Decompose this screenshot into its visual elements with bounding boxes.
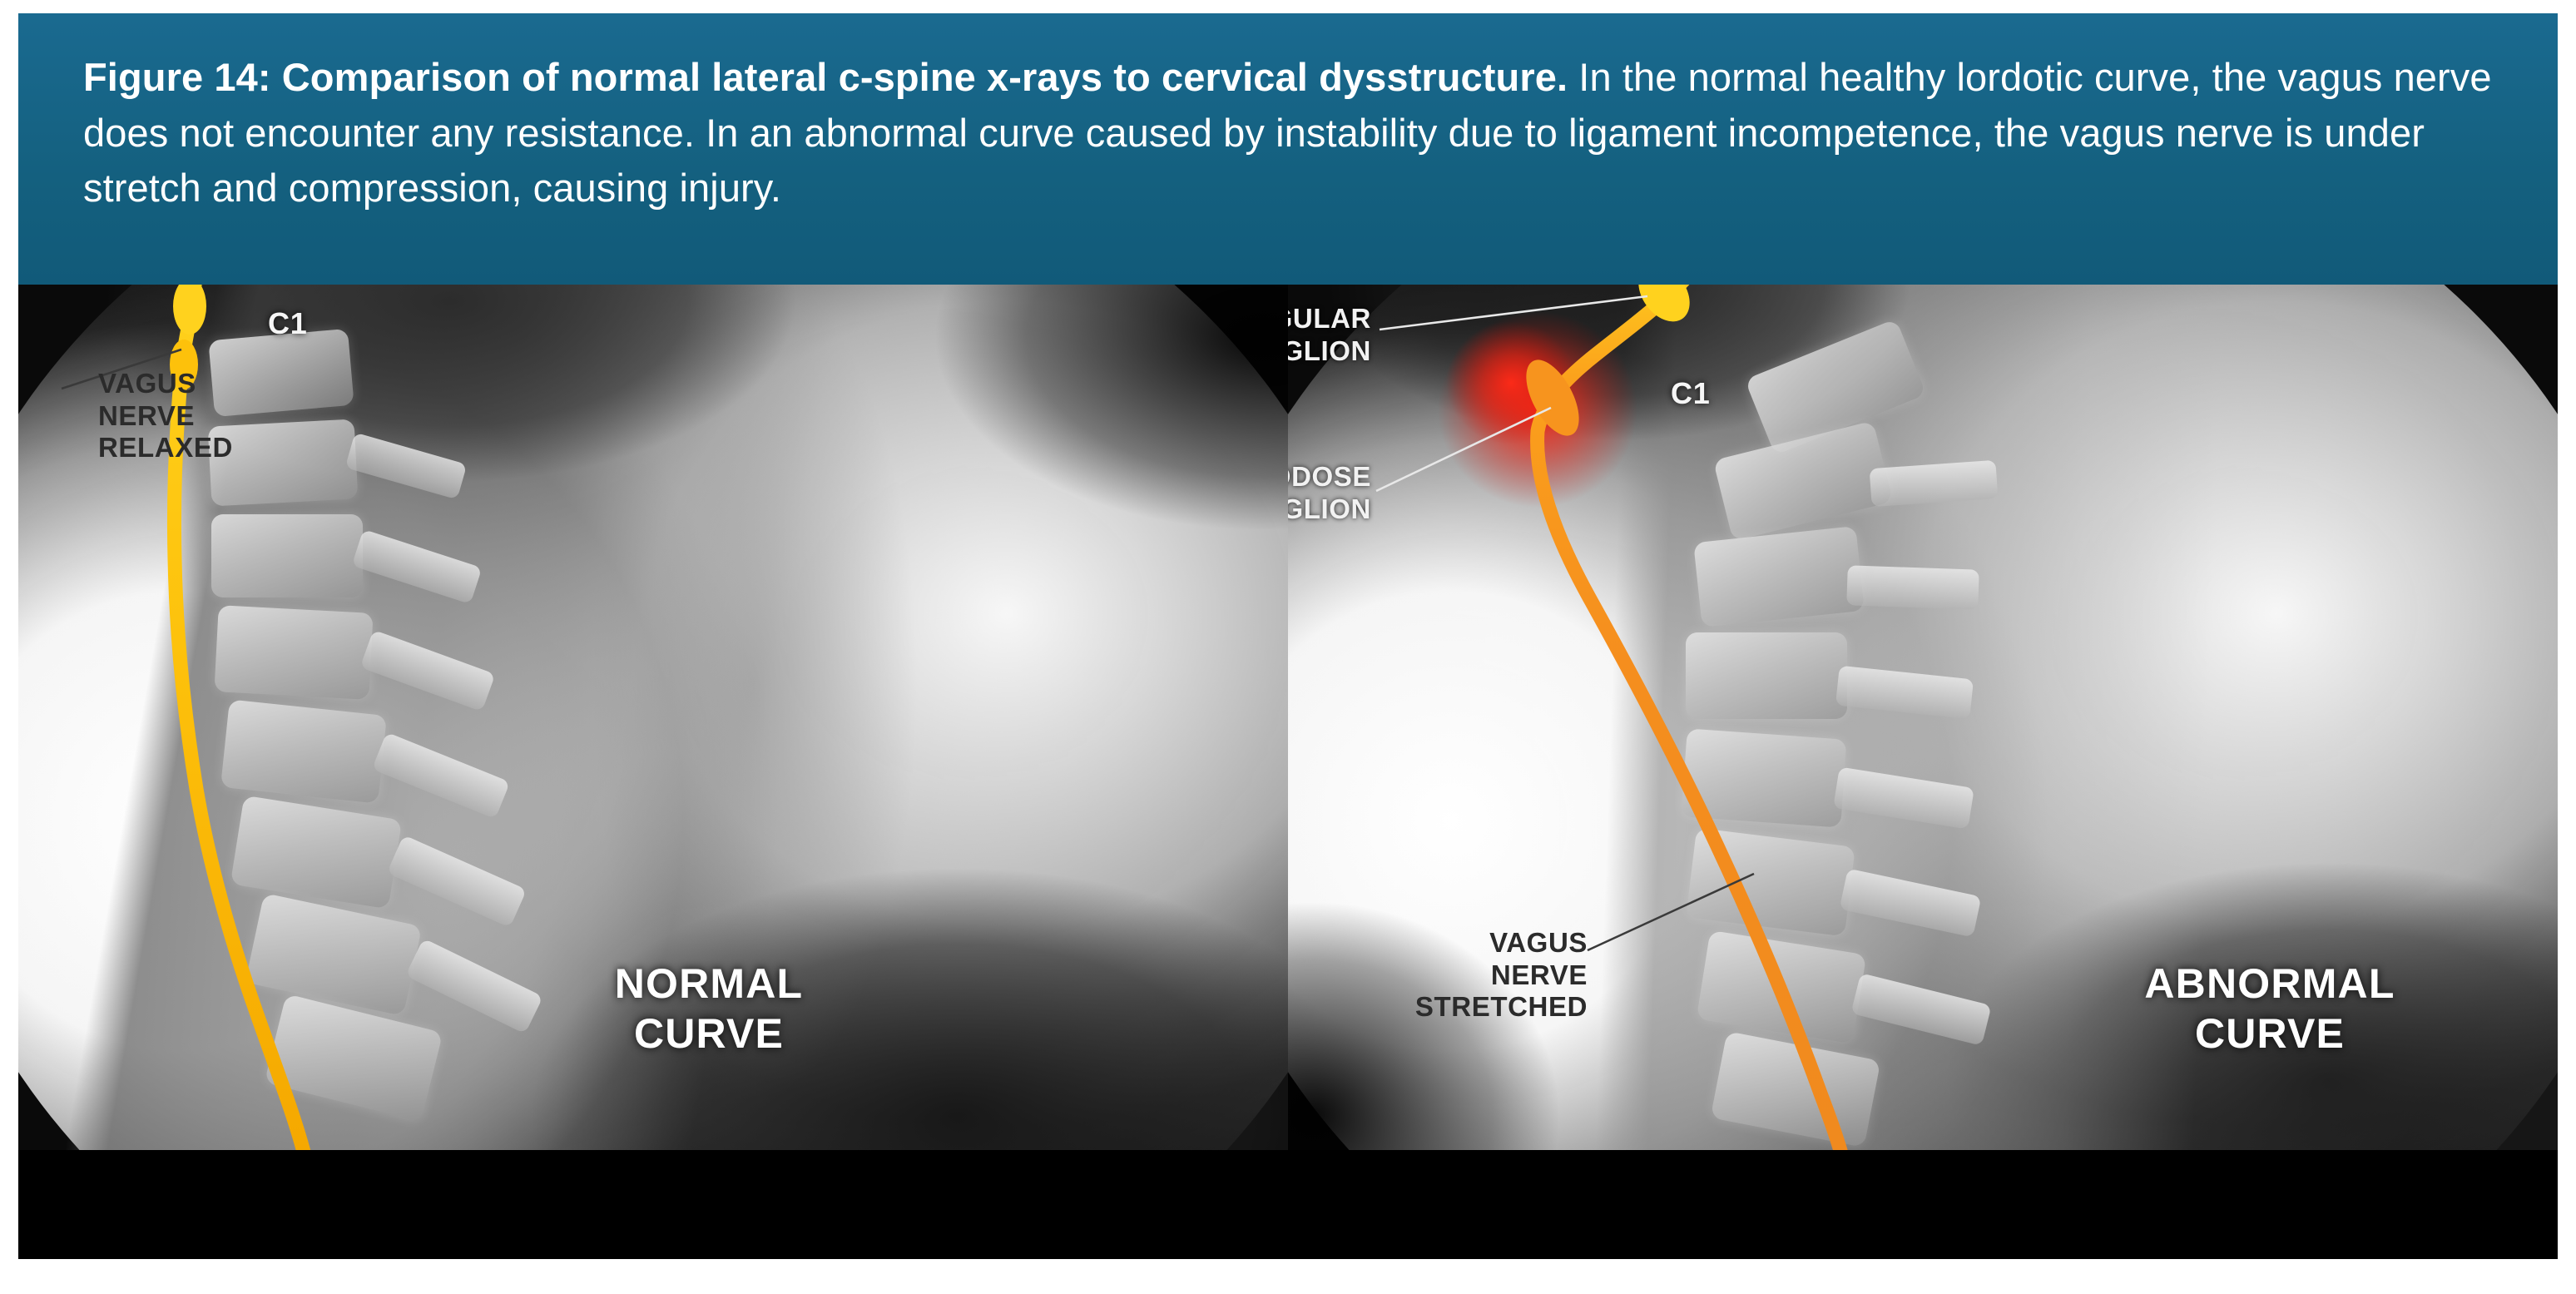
figure-frame: Figure 14: Comparison of normal lateral … bbox=[18, 13, 2558, 1259]
annotation-vagus-nerve-stretched: VAGUS NERVE STRETCHED bbox=[1313, 927, 1588, 1024]
figure-caption-lead: Figure 14: Comparison of normal lateral … bbox=[83, 55, 1568, 99]
annotation-jugular-ganglion: JUGULAR GANGLION bbox=[1288, 303, 1371, 367]
panel-title-normal-curve: NORMAL CURVE bbox=[534, 959, 884, 1059]
xray-panel-normal: VAGUS NERVE RELAXED C1 NORMAL CURVE bbox=[18, 285, 1288, 1150]
annotation-nodose-ganglion: NODOSE GANGLION bbox=[1288, 461, 1371, 525]
figure-page: Figure 14: Comparison of normal lateral … bbox=[0, 0, 2576, 1294]
xray-stage: VAGUS NERVE RELAXED C1 NORMAL CURVE bbox=[18, 285, 2558, 1259]
vertebra-label-c1-normal: C1 bbox=[268, 306, 308, 341]
panel-title-abnormal-curve: ABNORMAL CURVE bbox=[2078, 959, 2461, 1059]
figure-caption-text: Figure 14: Comparison of normal lateral … bbox=[83, 50, 2506, 216]
figure-letterbox-band bbox=[18, 1150, 2558, 1259]
xray-panel-abnormal: JUGULAR GANGLION NODOSE GANGLION VAGUS N… bbox=[1288, 285, 2558, 1150]
annotation-vagus-nerve-relaxed: VAGUS NERVE RELAXED bbox=[98, 368, 233, 464]
figure-caption-bar: Figure 14: Comparison of normal lateral … bbox=[18, 13, 2558, 285]
vertebra-label-c1-abnormal: C1 bbox=[1671, 376, 1711, 411]
